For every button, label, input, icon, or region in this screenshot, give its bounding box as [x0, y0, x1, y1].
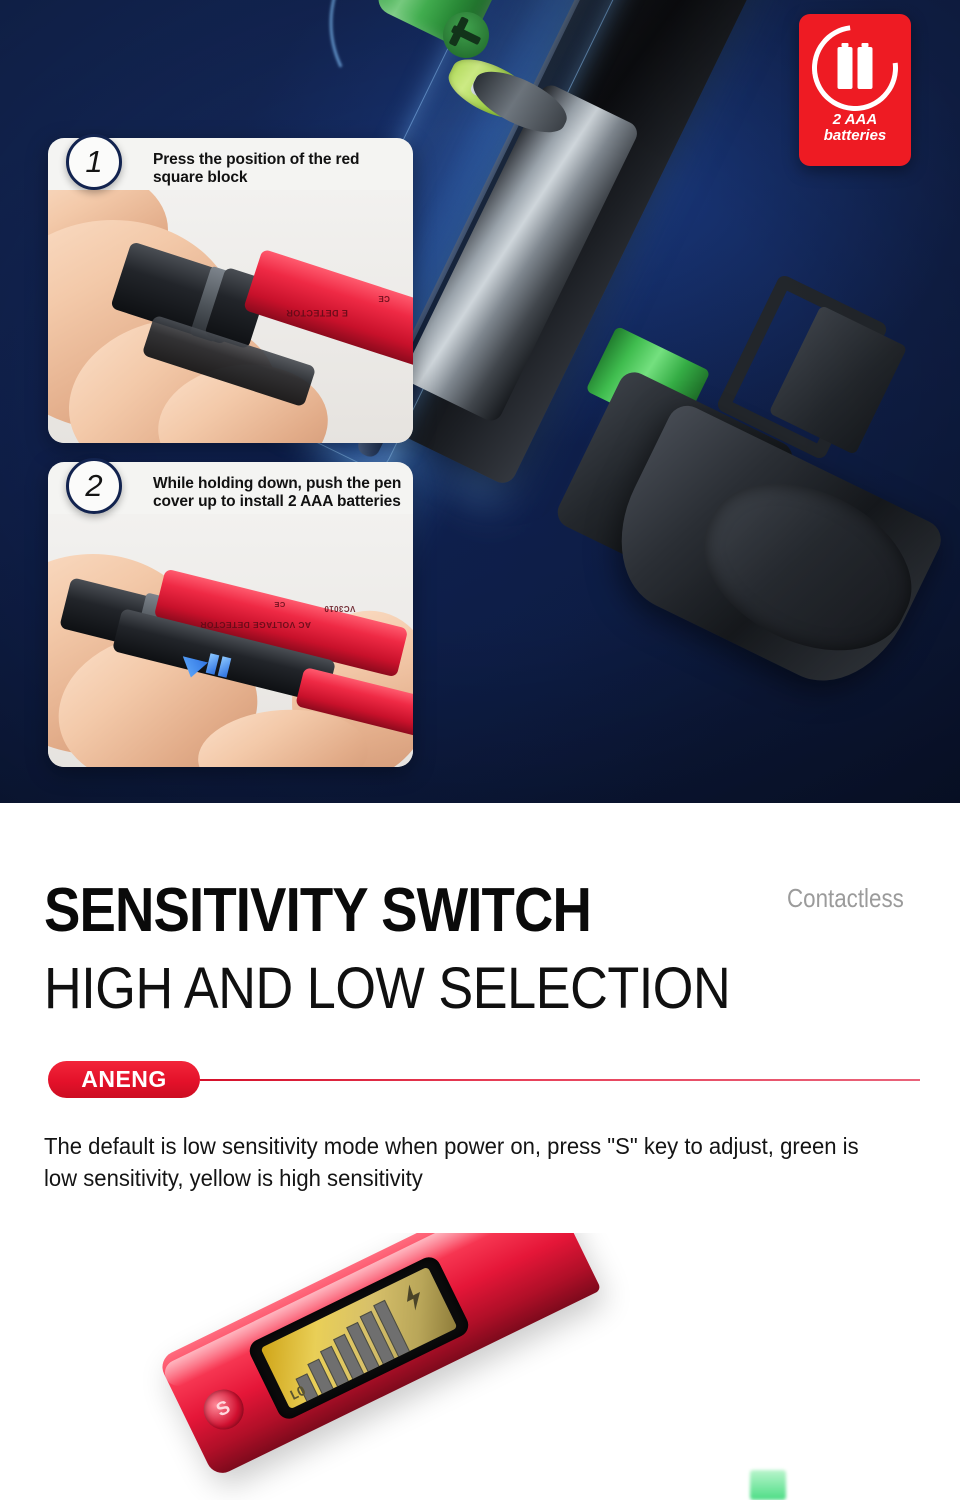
badge-label-line2: batteries — [824, 127, 887, 144]
sensitivity-section: SENSITIVITY SWITCH HIGH AND LOW SELECTIO… — [0, 803, 960, 1500]
pen-label-model-2: VC3010 — [324, 604, 355, 613]
product-shot: LO S Low sensitivity Boot default mode — [0, 1233, 960, 1500]
voltage-detector-pen: LO S — [157, 1233, 601, 1478]
pen-label-ce-1: CE — [378, 294, 390, 303]
step-2-number: 2 — [66, 458, 122, 514]
badge-label: 2 AAA batteries — [824, 112, 887, 144]
lightning-bolt-icon — [399, 1281, 428, 1313]
two-batteries-icon — [812, 25, 898, 111]
badge-battery-left — [838, 47, 853, 89]
page-title: SENSITIVITY SWITCH — [44, 875, 591, 946]
pen-label-detector-2: AC VOLTAGE DETECTOR — [200, 620, 311, 630]
badge-battery-pair — [838, 47, 873, 89]
step-1-label: Press the position of the red square blo… — [153, 151, 405, 188]
brand-divider-row: ANENG — [48, 1061, 920, 1099]
description-text: The default is low sensitivity mode when… — [44, 1131, 889, 1194]
step-2-photo: AC VOLTAGE DETECTOR VC3010 CE — [48, 514, 413, 767]
divider-line — [200, 1079, 920, 1081]
hero-section: E DETECTOR CE Press the position of the … — [0, 0, 960, 803]
aaa-batteries-badge: 2 AAA batteries — [799, 14, 911, 166]
transparent-tip-housing — [615, 1233, 816, 1247]
badge-label-line1: 2 AAA — [833, 111, 877, 128]
sensitivity-button[interactable]: S — [197, 1383, 250, 1436]
green-indicator-chip — [750, 1470, 786, 1500]
step-1-number: 1 — [66, 134, 122, 190]
pen-label-ce-2: CE — [274, 600, 285, 609]
brand-badge: ANENG — [48, 1061, 200, 1098]
badge-battery-right — [858, 47, 873, 89]
page-subtitle: HIGH AND LOW SELECTION — [44, 955, 730, 1022]
step-2-label: While holding down, push the pen cover u… — [153, 475, 405, 511]
tagline: Contactless — [787, 883, 904, 914]
pen-label-detector-1: E DETECTOR — [286, 308, 348, 318]
step-1-photo: E DETECTOR CE — [48, 190, 413, 443]
